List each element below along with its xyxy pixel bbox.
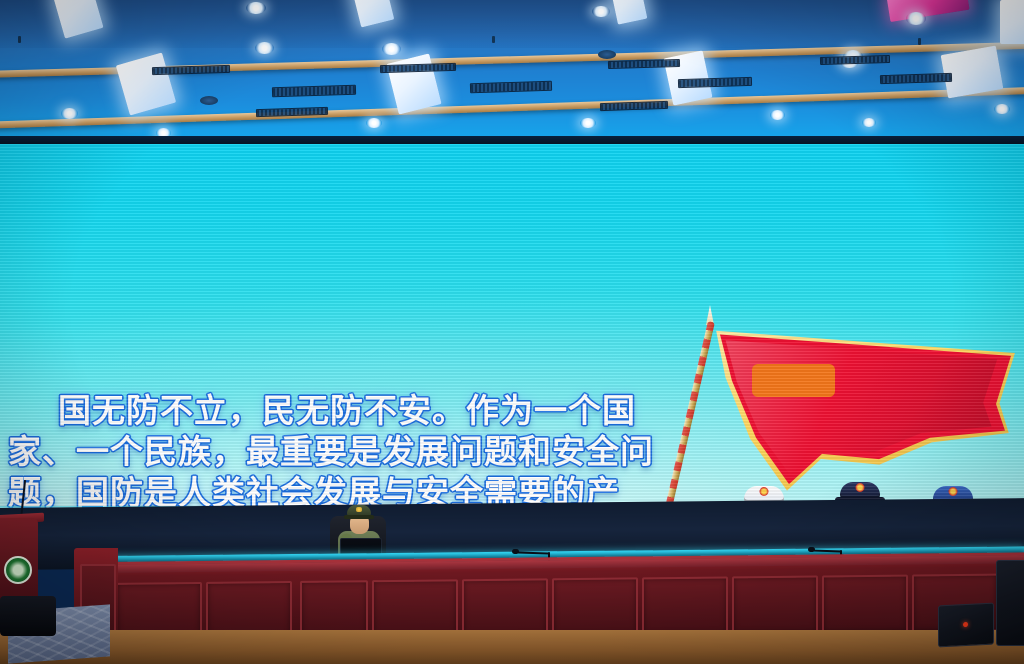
ceiling-downlight: [366, 118, 382, 128]
ceiling-downlight: [382, 43, 401, 55]
rostrum-panel: [642, 576, 728, 635]
cap-badge: [356, 507, 362, 512]
desk-microphone-head: [808, 547, 815, 552]
redaction-box: [752, 364, 835, 397]
screenshot-root: 国无防不立，民无防不安。作为一个国家、一个民族，最重要是发展问题和安全问题，国防…: [0, 0, 1024, 664]
side-speaker-tower: [996, 560, 1024, 646]
slide-body-text: 国无防不立，民无防不安。作为一个国家、一个民族，最重要是发展问题和安全问题，国防…: [8, 390, 680, 514]
sprinkler-head: [18, 36, 21, 43]
ceiling-panel-light: [116, 52, 176, 115]
ceiling-air-vent: [600, 101, 668, 111]
service-cap: [840, 482, 880, 499]
stage-monitor-speaker: [938, 603, 994, 648]
ceiling-downlight: [592, 6, 610, 17]
sprinkler-head: [492, 36, 495, 43]
stage-floor: [0, 630, 1024, 664]
rostrum-panel: [732, 576, 818, 635]
rostrum-panel: [462, 578, 548, 637]
ceiling-downlight: [246, 2, 266, 14]
led-screen: 国无防不立，民无防不安。作为一个国家、一个民族，最重要是发展问题和安全问题，国防…: [0, 144, 1024, 514]
ceiling-air-vent: [880, 73, 952, 84]
ceiling: [0, 0, 1024, 146]
ceiling-speaker: [200, 96, 218, 105]
ceiling-downlight: [255, 42, 274, 54]
ceiling-downlight: [906, 12, 926, 25]
cap-badge: [760, 487, 769, 496]
ceiling-downlight: [770, 110, 785, 120]
ceiling-speaker: [598, 50, 616, 59]
ceiling-air-vent: [152, 65, 230, 75]
ceiling-air-vent: [470, 81, 552, 94]
ceiling-downlight: [580, 118, 596, 128]
ceiling-downlight: [994, 104, 1010, 114]
left-subwoofer: [0, 596, 56, 636]
ceiling-downlight: [61, 108, 78, 119]
ceiling-air-vent: [272, 85, 356, 98]
cap-badge: [949, 487, 958, 496]
military-cap: [347, 505, 371, 516]
ceiling-downlight: [862, 118, 876, 127]
desk-microphone-head: [512, 549, 519, 554]
speaker-power-led: [963, 622, 968, 627]
ceiling-air-vent: [678, 77, 752, 88]
rostrum-panel: [822, 575, 908, 634]
cap-badge: [856, 483, 865, 492]
rostrum-panel: [552, 577, 638, 636]
ceiling-panel-light: [1000, 0, 1024, 44]
ceiling-air-vent: [380, 63, 456, 73]
ceiling-air-vent: [820, 55, 890, 65]
lectern-emblem-icon: [4, 556, 32, 584]
sprinkler-head: [918, 38, 921, 45]
